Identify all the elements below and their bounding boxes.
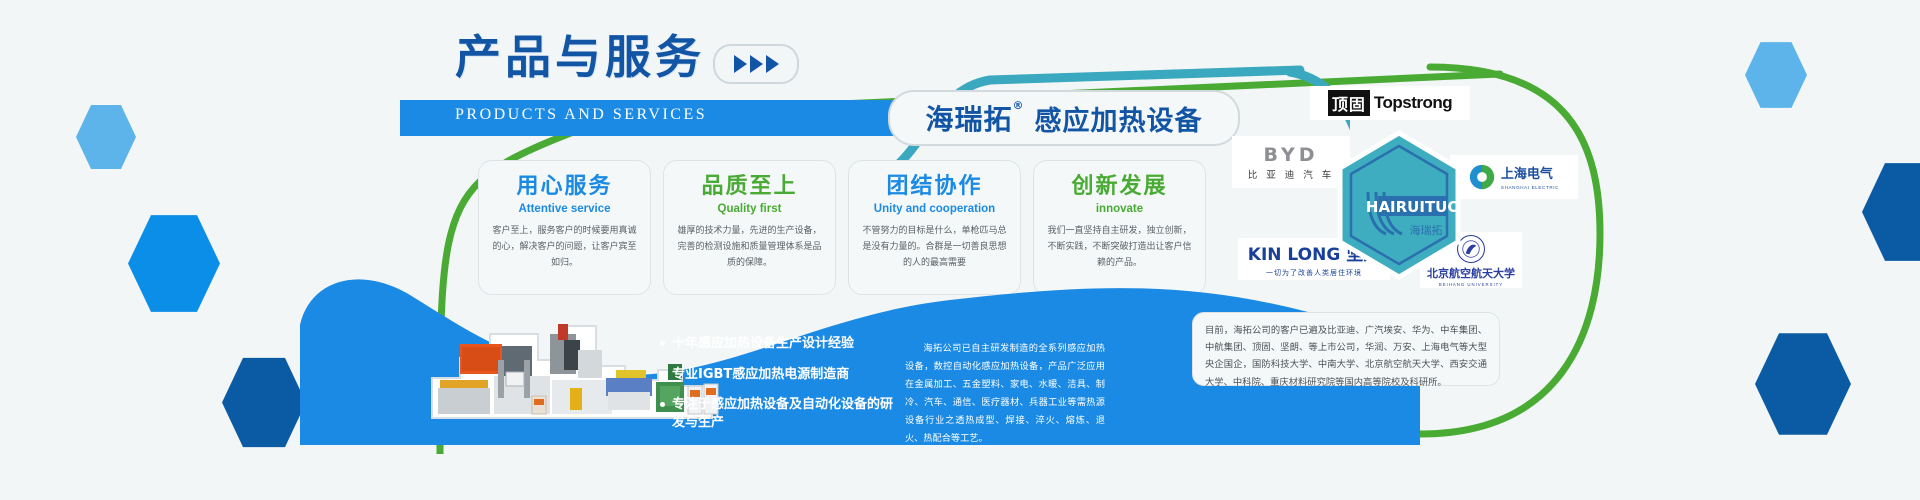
hairuituo-en: HAIRUITUO — [1366, 198, 1460, 216]
card-title-cn: 用心服务 — [491, 175, 638, 199]
page-title-en: PRODUCTS AND SERVICES — [455, 106, 707, 124]
bullet-text: 专业IGBT感应加热电源制造商 — [672, 366, 849, 384]
brand-badge: 海瑞拓® 感应加热设备 — [888, 90, 1240, 146]
triple-chevron-right-icon — [713, 44, 799, 84]
bullet-dot-icon — [660, 372, 665, 377]
list-item: 专注于感应加热设备及自动化设备的研发与生产 — [660, 396, 900, 431]
hexagon-decor-dark-blue — [222, 355, 306, 450]
shanghai-electric-text: 上海电气 SHANGHAI ELECTRIC — [1501, 165, 1559, 190]
hairuituo-cn: 海瑞拓 — [1410, 223, 1443, 237]
topstrong-en: Topstrong — [1374, 93, 1452, 113]
card-title-en: Attentive service — [491, 203, 638, 215]
hexagon-decor-blue-right — [1862, 160, 1920, 264]
client-logo-byd: BYD 比 亚 迪 汽 车 — [1232, 136, 1350, 188]
card-title-en: Quality first — [676, 203, 823, 215]
card-title-en: Unity and cooperation — [861, 203, 1008, 215]
brand-subtitle: 感应加热设备 — [1035, 99, 1203, 138]
hexagon-decor-dark-blue-right — [1755, 330, 1851, 438]
hexagon-decor-blue — [128, 212, 220, 315]
client-logo-topstrong: 顶固 Topstrong — [1310, 86, 1470, 120]
buaa-en: BEIHANG UNIVERSITY — [1439, 282, 1503, 287]
byd-cn: 比 亚 迪 汽 车 — [1248, 167, 1335, 181]
poster-canvas: 产品与服务 PRODUCTS AND SERVICES 海瑞拓® 感应加热设备 … — [0, 0, 1920, 500]
bullet-text: 十年感应加热设备生产设计经验 — [672, 335, 854, 353]
hexagon-decor-light-blue — [76, 103, 136, 171]
bullet-dot-icon — [660, 341, 665, 346]
topstrong-cn: 顶固 — [1328, 90, 1370, 116]
hairuituo-hexagon-logo: HAIRUITUO 海瑞拓 — [1334, 130, 1464, 280]
card-title-cn: 团结协作 — [861, 175, 1008, 199]
company-description: 海拓公司已自主研发制造的全系列感应加热设备，数控自动化感应加热设备，产品广泛应用… — [905, 340, 1105, 448]
highlight-bullet-list: 十年感应加热设备生产设计经验 专业IGBT感应加热电源制造商 专注于感应加热设备… — [660, 335, 900, 444]
company-description-text: 海拓公司已自主研发制造的全系列感应加热设备，数控自动化感应加热设备，产品广泛应用… — [905, 340, 1105, 448]
client-logo-shanghai-electric: 上海电气 SHANGHAI ELECTRIC — [1450, 155, 1578, 199]
card-title-en: innovate — [1046, 203, 1193, 215]
registered-trademark-icon: ® — [1013, 99, 1025, 112]
client-list-description: 目前，海拓公司的客户已遍及比亚迪、广汽埃安、华为、中车集团、中航集团、顶固、坚朗… — [1192, 312, 1500, 386]
byd-wordmark: BYD — [1264, 144, 1319, 166]
card-title-cn: 创新发展 — [1046, 175, 1193, 199]
list-item: 十年感应加热设备生产设计经验 — [660, 335, 900, 353]
shanghai-electric-mark-icon — [1469, 164, 1495, 190]
hexagon-decor-light-blue-right — [1745, 40, 1807, 110]
shanghai-electric-cn: 上海电气 — [1501, 167, 1553, 182]
bullet-dot-icon — [660, 402, 665, 407]
bullet-text: 专注于感应加热设备及自动化设备的研发与生产 — [672, 396, 900, 431]
page-title-cn: 产品与服务 — [455, 34, 875, 80]
list-item: 专业IGBT感应加热电源制造商 — [660, 366, 900, 384]
card-title-cn: 品质至上 — [676, 175, 823, 199]
brand-name: 海瑞拓® — [925, 98, 1024, 138]
shanghai-electric-en: SHANGHAI ELECTRIC — [1501, 185, 1559, 190]
